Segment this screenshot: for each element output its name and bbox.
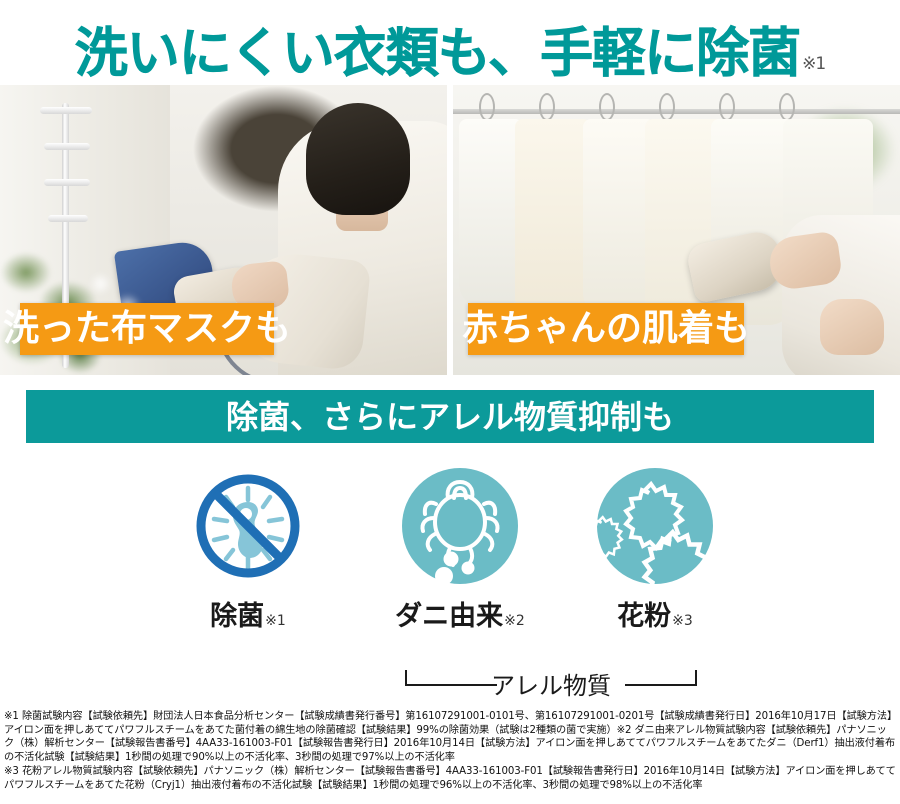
section-banner: 除菌、さらにアレル物質抑制も [26,390,874,443]
benefit-label-superscript: ※1 [265,613,286,629]
hanger-hook [599,93,615,121]
benefit-label-text: 除菌 [210,601,264,632]
benefit-label-superscript: ※3 [672,613,693,629]
footnote-1: ※1 除菌試験内容【試験依頼先】財団法人日本食品分析センター【試験成績書発行番号… [4,710,896,764]
person-head [306,103,410,215]
caption-badge-right-text: 赤ちゃんの肌着も [462,311,750,347]
hanger-hook [659,93,675,121]
benefit-item-pollen: 花粉※3 [545,462,765,633]
benefit-label-dust-mite: ダニ由来※2 [350,594,570,633]
caption-badge-right: 赤ちゃんの肌着も [468,303,744,355]
footnotes: ※1 除菌試験内容【試験依頼先】財団法人日本食品分析センター【試験成績書発行番号… [4,710,896,794]
benefit-item-sterilization: 除菌※1 [138,462,358,633]
benefit-label-sterilization: 除菌※1 [138,594,358,633]
bracket-line-right [625,684,697,686]
page-title: 洗いにくい衣類も、手軽に除菌 ※1 [0,8,900,80]
section-banner-text: 除菌、さらにアレル物質抑制も [226,401,674,433]
caption-badge-left-text: 洗った布マスクも [3,311,291,347]
hanger-hook [539,93,555,121]
no-bacteria-icon [138,462,358,590]
hanger-hook [479,93,495,121]
drying-rack-arm [44,179,90,186]
hanger-hook [779,93,795,121]
dust-mite-icon [350,462,570,590]
drying-rack-arm [44,143,90,150]
benefit-label-text: ダニ由来 [395,601,503,632]
caption-badge-left: 洗った布マスクも [20,303,274,355]
pollen-icon [545,462,765,590]
drying-rack-arm [48,215,88,222]
hanger-rail [453,109,900,114]
page-title-superscript: ※1 [802,54,825,74]
bracket-tick-right [695,670,697,686]
footnote-2: ※3 花粉アレル物質試験内容【試験依頼先】パナソニック（株）解析センター【試験報… [4,765,896,792]
baby-garment [515,119,591,324]
benefit-label-text: 花粉 [617,601,671,632]
person-hand [820,299,884,355]
drying-rack-arm [40,107,92,114]
benefit-item-dust-mite: ダニ由来※2 [350,462,570,633]
page-title-text: 洗いにくい衣類も、手軽に除菌 [75,27,800,80]
baby-garment [459,119,523,309]
benefit-icon-row: 除菌※1 [0,462,900,652]
hanger-hook [719,93,735,121]
benefit-label-superscript: ※2 [504,613,525,629]
allergen-bracket: アレル物質 [405,662,697,696]
benefit-label-pollen: 花粉※3 [545,594,765,633]
